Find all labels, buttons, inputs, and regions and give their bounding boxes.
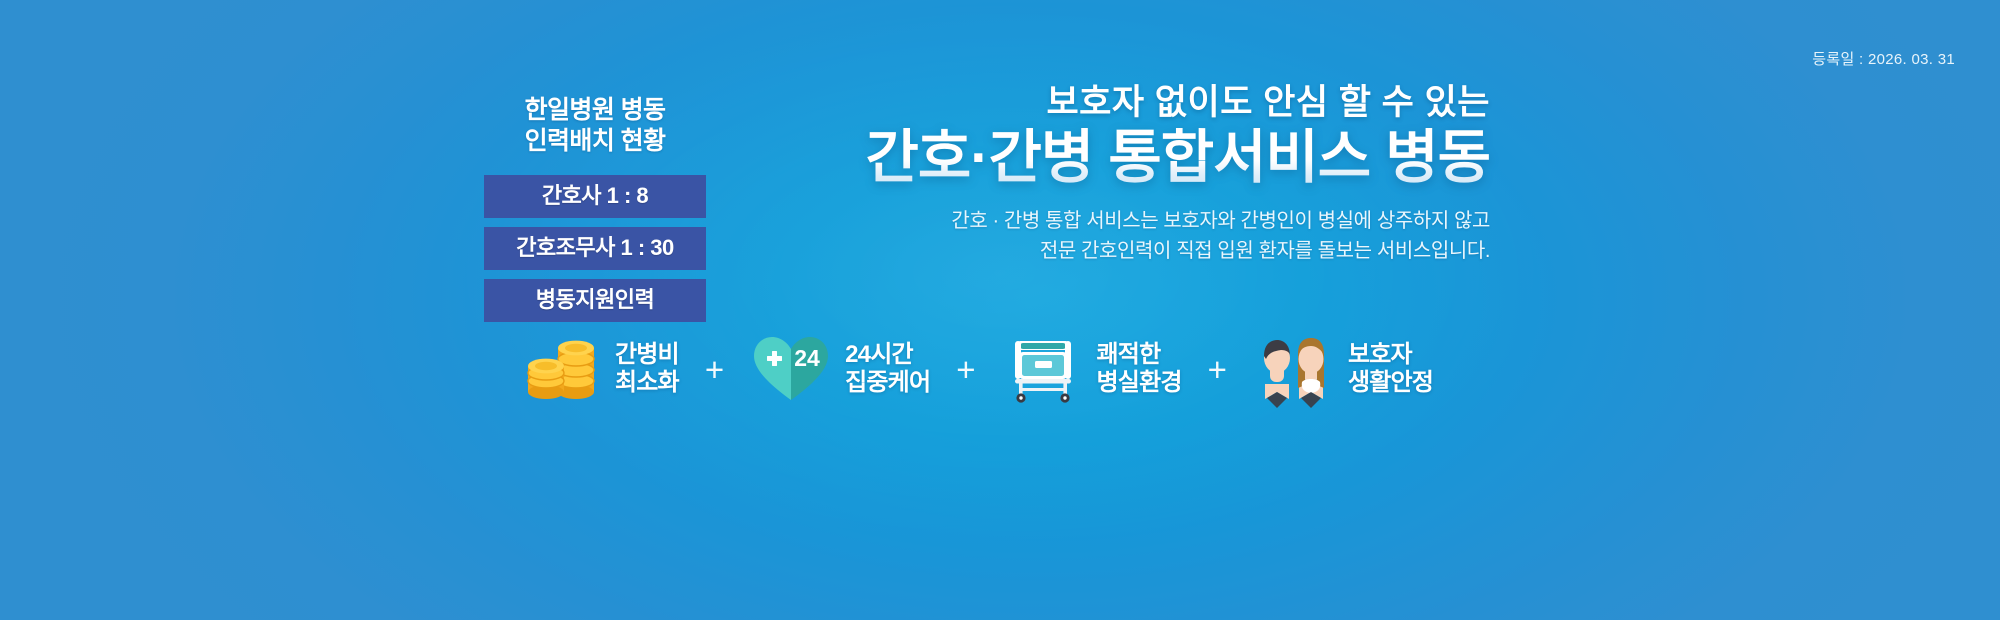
feature-separator-1: + [679,353,750,386]
heart-badge-number: 24 [794,345,820,371]
feature-24h-care: 24 24시간 집중케어 [750,330,930,408]
staffing-badge-nurse: 간호사 1 : 8 [484,175,706,218]
feature-label-ward-environment: 쾌적한 병실환경 [1097,341,1182,397]
feature-label-24h-care: 24시간 집중케어 [845,341,930,397]
feature-row: 간병비 최소화 + [520,330,1433,408]
staffing-panel-title: 한일병원 병동 인력배치 현황 [484,95,706,157]
staffing-badge-ward-support: 병동지원인력 [484,279,706,322]
feature-separator-3: + [1182,353,1253,386]
registration-date: 등록일 : 2026. 03. 31 [1812,48,1955,69]
feature-separator-2: + [930,353,1001,386]
headline-subtitle: 보호자 없이도 안심 할 수 있는 [700,84,1490,122]
headline-block: 보호자 없이도 안심 할 수 있는 간호·간병 통합서비스 병동 간호 · 간병… [700,84,1490,266]
headline-description: 간호 · 간병 통합 서비스는 보호자와 간병인이 병실에 상주하지 않고 전문… [700,206,1490,267]
feature-family-stability: 보호자 생활안정 [1253,330,1433,408]
coins-icon [520,330,602,408]
promo-banner: 등록일 : 2026. 03. 31 한일병원 병동 인력배치 현황 간호사 1… [0,0,2000,620]
staffing-badge-nurse-aide: 간호조무사 1 : 30 [484,227,706,270]
feature-label-family-stability: 보호자 생활안정 [1348,341,1433,397]
staffing-stat-panel: 한일병원 병동 인력배치 현황 간호사 1 : 8 간호조무사 1 : 30 병… [484,95,706,322]
two-people-icon [1253,330,1335,408]
feature-label-cost-reduction: 간병비 최소화 [615,341,679,397]
feature-cost-reduction: 간병비 최소화 [520,330,679,408]
staffing-badge-list: 간호사 1 : 8 간호조무사 1 : 30 병동지원인력 [484,175,706,322]
feature-ward-environment: 쾌적한 병실환경 [1002,330,1182,408]
hospital-bed-icon [1002,330,1084,408]
headline-title: 간호·간병 통합서비스 병동 [700,128,1490,189]
heart-24-icon: 24 [750,330,832,408]
